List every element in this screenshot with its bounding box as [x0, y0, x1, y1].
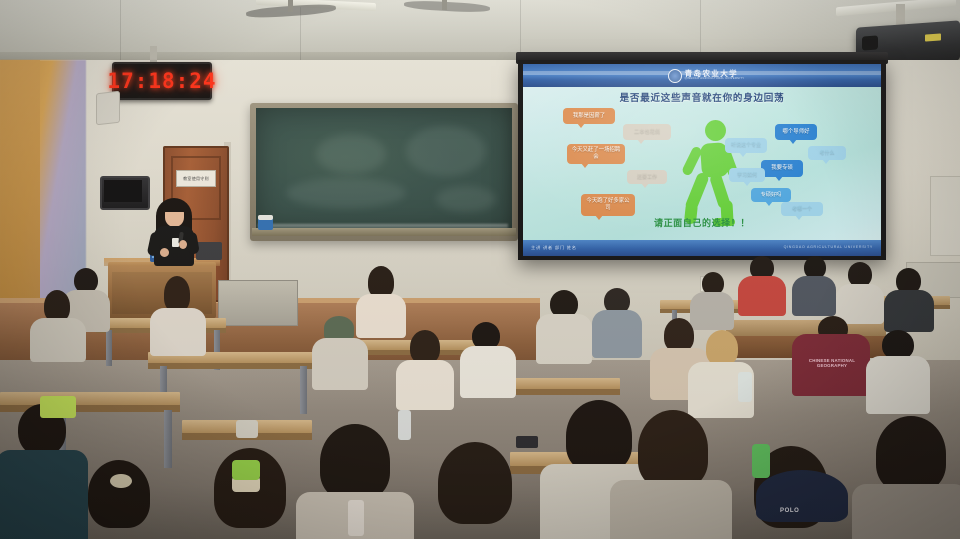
presenter-fringe [162, 200, 187, 212]
speech-bubble-blue-1: 哪个导师好 [775, 124, 817, 140]
student [592, 288, 642, 354]
classroom-photo: 17:18:24 教室使用守则 青岛农业大学 QINGDAO AGRICULTU… [0, 0, 960, 539]
slide-title: 是否最近这些声音就在你的身边回荡 [523, 90, 881, 104]
speech-bubble-orange-faded-1: 二本也花俏 [623, 124, 671, 140]
projector-badge [925, 33, 941, 41]
student [396, 330, 454, 404]
student [30, 290, 86, 352]
speech-bubble-orange-faded-2: 还要工作 [627, 170, 667, 184]
student-maroon-shirt: CHINESE NATIONAL GEOGRAPHY [792, 318, 870, 398]
slide-band-left-text: 主讲 讲者 部门 姓名 [531, 245, 577, 251]
university-logo: 青岛农业大学 QINGDAO AGRICULTURAL UNIVERSITY [656, 67, 756, 84]
speech-bubble-blue-faded-4: 考哪一个 [781, 202, 823, 216]
chalk-tray [252, 228, 516, 236]
speech-bubble-blue-faded-3: 学习如何 [729, 168, 765, 182]
student [836, 262, 884, 318]
projector-lens-icon [862, 35, 878, 50]
student [690, 272, 736, 324]
water-bottle [738, 372, 752, 402]
right-wall-panel [930, 176, 960, 256]
speech-bubble-blue-faded-2: 考什么 [808, 146, 846, 160]
student-foreground [610, 410, 732, 539]
small-item [236, 420, 258, 438]
speech-bubble-blue-faded-1: 听说这个专业 [725, 138, 767, 153]
student [866, 330, 930, 410]
slide-band-right-text: QINGDAO AGRICULTURAL UNIVERSITY [784, 245, 873, 249]
speech-bubble-orange-2: 今天又赶了一场招聘会 [567, 144, 625, 164]
water-bottle [398, 410, 411, 440]
ceiling-fan-1-rod [288, 0, 293, 12]
cap-brand-text: POLO [780, 508, 799, 514]
student [312, 316, 368, 388]
water-bottle [348, 500, 364, 536]
green-bottle [752, 444, 770, 478]
university-seal-icon [668, 69, 682, 83]
shirt-brand-text: CHINESE NATIONAL GEOGRAPHY [806, 358, 858, 368]
slide-footer-text: 请正面自己的选择！！ [523, 216, 881, 229]
student [460, 322, 516, 394]
student [736, 256, 788, 312]
desk-leg [300, 366, 307, 414]
presenter-hand-left [160, 248, 169, 257]
door-sign: 教室使用守则 [176, 170, 216, 187]
presentation-slide: 青岛农业大学 QINGDAO AGRICULTURAL UNIVERSITY 是… [523, 64, 881, 256]
student [150, 276, 206, 350]
digital-wall-clock: 17:18:24 [112, 62, 212, 100]
university-name-en: QINGDAO AGRICULTURAL UNIVERSITY [685, 78, 745, 81]
student-polo-cap: POLO [744, 470, 874, 539]
green-pouch [232, 460, 260, 480]
desk-leg [106, 330, 112, 366]
tissue-pack [40, 396, 76, 418]
presenter [146, 196, 204, 268]
speech-bubble-blue-2: 我要专硕 [761, 160, 803, 177]
clock-time-text: 17:18:24 [107, 69, 216, 93]
speech-bubble-blue-3: 专硕好吗 [751, 188, 791, 202]
desk-edge [148, 363, 316, 369]
ceiling-fan-2-rod [442, 0, 447, 10]
student-foreground [66, 460, 176, 539]
student [792, 256, 838, 308]
student-foreground [410, 442, 536, 539]
blackboard [256, 108, 512, 231]
side-cabinet [218, 280, 298, 326]
door-sign-text: 教室使用守则 [183, 176, 209, 182]
wall-monitor-screen [104, 180, 142, 202]
student [536, 290, 592, 360]
student [884, 268, 934, 326]
speech-bubble-orange-3: 今天跑了好多家公司 [581, 194, 635, 216]
left-wall-curtain [0, 60, 40, 310]
phone[interactable] [516, 436, 538, 448]
presenter-hand-right [179, 240, 187, 249]
chalk-eraser-top [258, 215, 273, 220]
wall-speaker [96, 91, 120, 126]
speech-bubble-orange-1: 我那是因薪了 [563, 108, 615, 124]
